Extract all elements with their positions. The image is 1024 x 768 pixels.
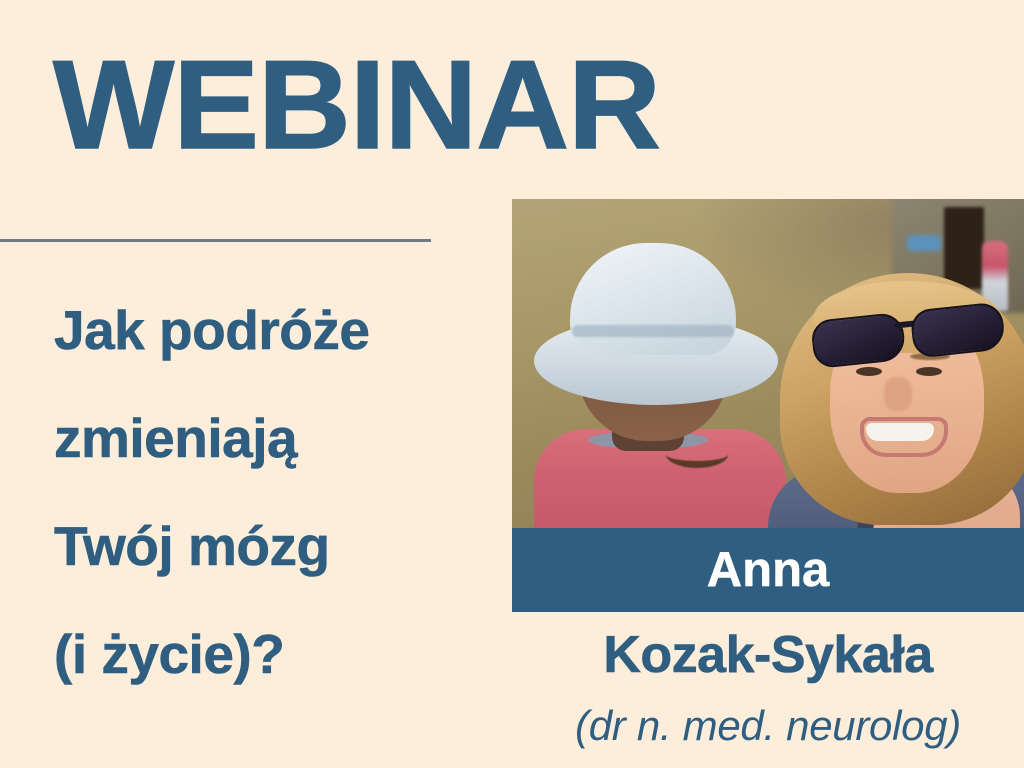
headline-block: Jak podróże zmieniają Twój mózg (i życie… [54, 276, 484, 708]
child-smile [666, 441, 728, 468]
headline-line-4: (i życie)? [54, 600, 484, 708]
title-divider [0, 239, 431, 242]
speaker-photo [512, 199, 1024, 530]
woman-eye-right [916, 367, 942, 376]
photo-background [512, 199, 1024, 530]
headline-line-2: zmieniają [54, 384, 484, 492]
headline-line-1: Jak podróże [54, 276, 484, 384]
sunglasses-lens-right [910, 301, 1007, 358]
child-subject [534, 239, 784, 530]
speaker-name-band: Anna [512, 528, 1024, 612]
woman-mouth [860, 417, 948, 457]
sunglasses-lens-left [810, 312, 907, 369]
woman-nose [884, 377, 912, 411]
bucket-hat-band [572, 325, 734, 337]
speaker-role: (dr n. med. neurolog) [512, 700, 1024, 752]
woman-subject [774, 251, 1024, 530]
headline-line-3: Twój mózg [54, 492, 484, 600]
speaker-first-name: Anna [707, 546, 830, 595]
page-title: WEBINAR [53, 42, 660, 168]
bucket-hat-crown [570, 243, 736, 355]
speaker-last-name: Kozak-Sykała [512, 624, 1024, 686]
background-object [907, 235, 941, 251]
woman-eye-left [856, 367, 882, 376]
webinar-poster: WEBINAR Jak podróże zmieniają Twój mózg … [0, 0, 1024, 768]
